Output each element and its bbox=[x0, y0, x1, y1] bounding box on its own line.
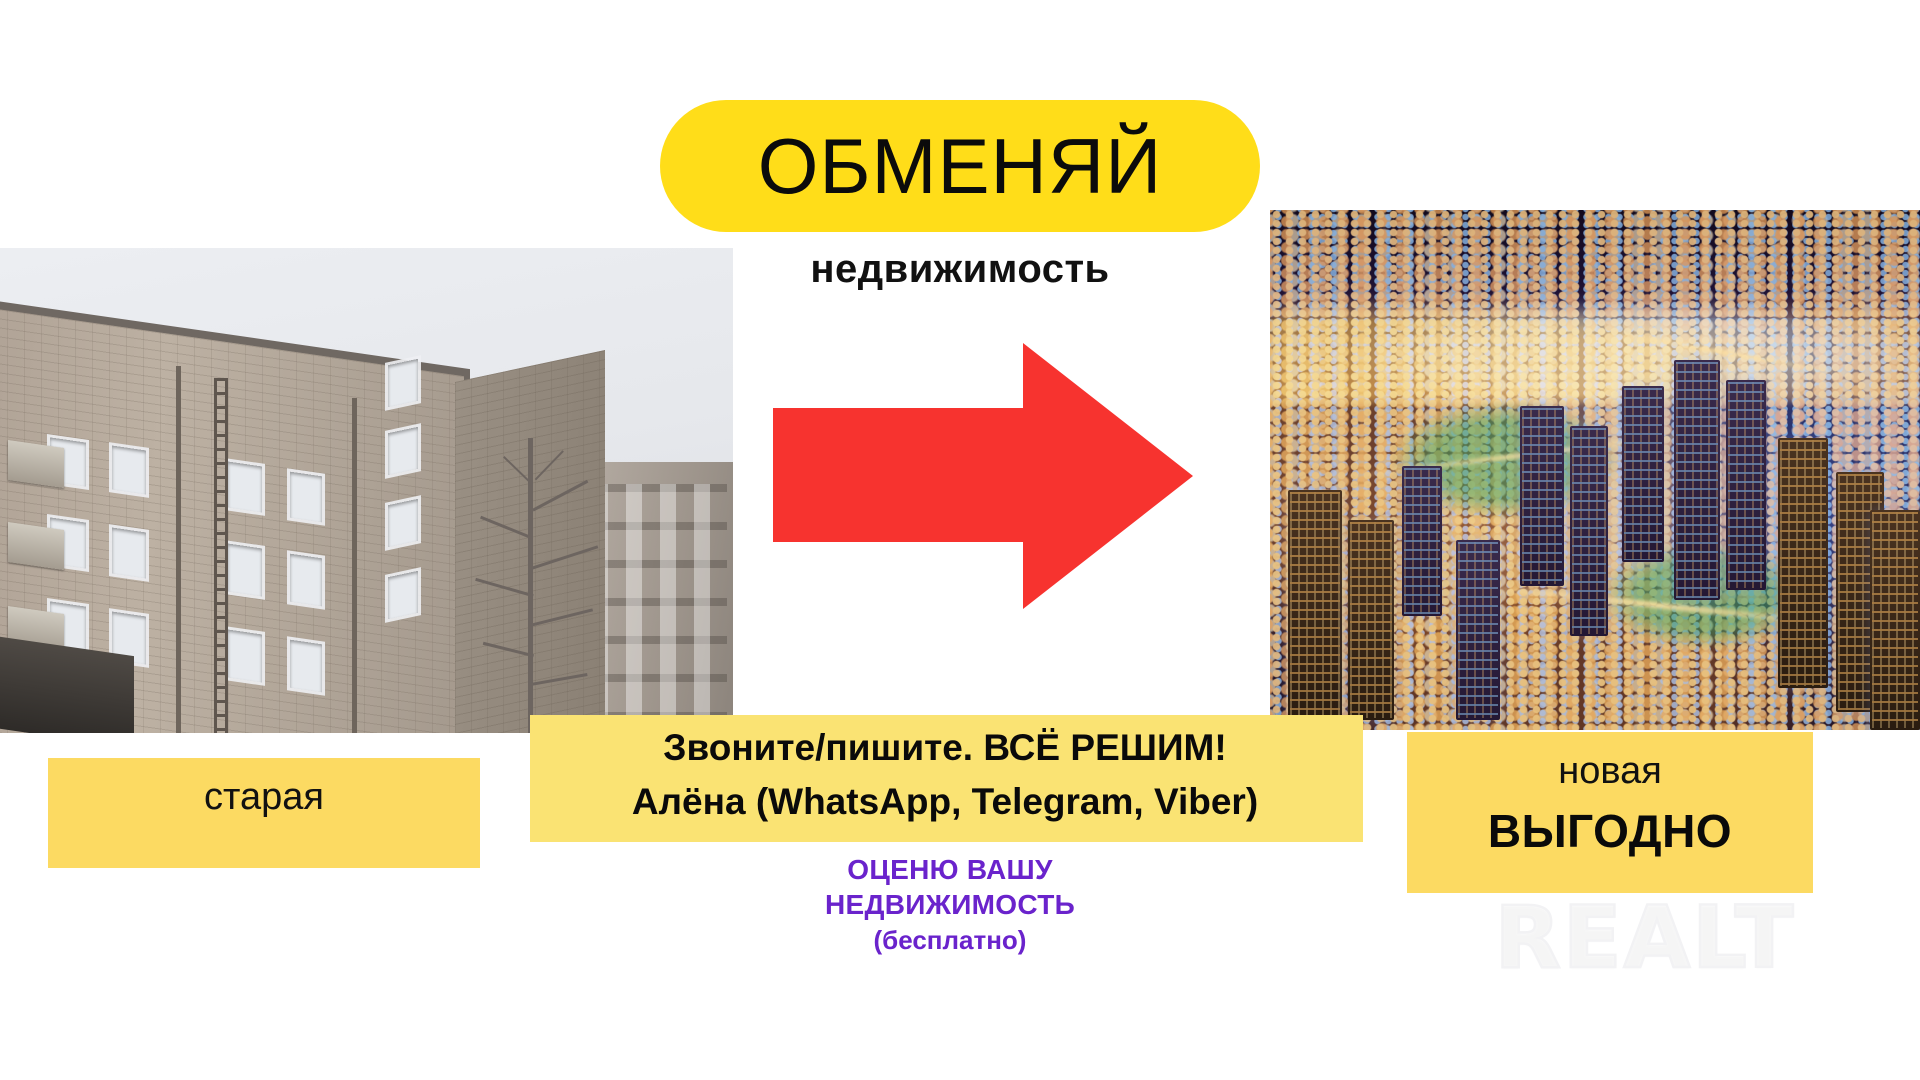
window bbox=[290, 554, 322, 607]
headline-text: ОБМЕНЯЙ bbox=[758, 127, 1163, 205]
old-property-badge: старая bbox=[48, 758, 480, 868]
drainpipe bbox=[176, 366, 181, 733]
window bbox=[388, 499, 418, 547]
contact-line-2: Алёна (WhatsApp, Telegram, Viber) bbox=[440, 774, 1450, 830]
poster-canvas: ОБМЕНЯЙ недвижимость Звоните/пишите. ВСЁ… bbox=[0, 0, 1920, 1080]
window bbox=[228, 544, 262, 597]
window bbox=[112, 446, 146, 495]
window bbox=[290, 640, 322, 693]
headline-pill: ОБМЕНЯЙ bbox=[660, 100, 1260, 232]
window bbox=[388, 427, 418, 475]
realt-watermark: REALT bbox=[1435, 888, 1855, 988]
arrow-right-icon bbox=[773, 343, 1193, 609]
residential-tower bbox=[1520, 406, 1564, 586]
fire-ladder bbox=[214, 378, 228, 733]
window bbox=[388, 359, 418, 407]
residential-tower bbox=[1674, 360, 1720, 600]
contact-line-1: Звоните/пишите. ВСЁ РЕШИМ! bbox=[440, 722, 1450, 774]
contact-text-block: Звоните/пишите. ВСЁ РЕШИМ! Алёна (WhatsA… bbox=[440, 722, 1450, 830]
offer-line-1: ОЦЕНЮ ВАШУ bbox=[560, 852, 1340, 887]
residential-tower bbox=[1778, 438, 1828, 688]
offer-line-2: НЕДВИЖИМОСТЬ bbox=[560, 887, 1340, 922]
old-building-photo bbox=[0, 248, 733, 733]
free-appraisal-block: ОЦЕНЮ ВАШУ НЕДВИЖИМОСТЬ (бесплатно) bbox=[560, 852, 1340, 958]
residential-tower bbox=[1456, 540, 1500, 720]
residential-tower bbox=[1570, 426, 1608, 636]
residential-tower bbox=[1870, 510, 1920, 730]
residential-tower bbox=[1402, 466, 1442, 616]
residential-tower bbox=[1726, 380, 1766, 590]
residential-tower bbox=[1622, 386, 1664, 562]
drainpipe bbox=[352, 398, 357, 733]
window bbox=[228, 630, 262, 683]
residential-tower bbox=[1288, 490, 1342, 720]
old-property-label: старая bbox=[48, 776, 480, 819]
new-property-badge: новая ВЫГОДНО bbox=[1407, 732, 1813, 893]
headline-subtitle: недвижимость bbox=[660, 247, 1260, 292]
window bbox=[290, 472, 322, 523]
bare-tree bbox=[468, 398, 638, 733]
new-property-label: новая bbox=[1407, 750, 1813, 793]
balcony bbox=[8, 440, 64, 488]
offer-line-3: (бесплатно) bbox=[560, 922, 1340, 958]
window bbox=[228, 462, 262, 513]
new-property-emphasis: ВЫГОДНО bbox=[1407, 804, 1813, 858]
watermark-text: REALT bbox=[1495, 888, 1796, 988]
window bbox=[112, 528, 146, 579]
residential-tower bbox=[1348, 520, 1394, 720]
new-city-photo bbox=[1270, 210, 1920, 730]
window bbox=[388, 571, 418, 619]
balcony bbox=[8, 522, 64, 570]
